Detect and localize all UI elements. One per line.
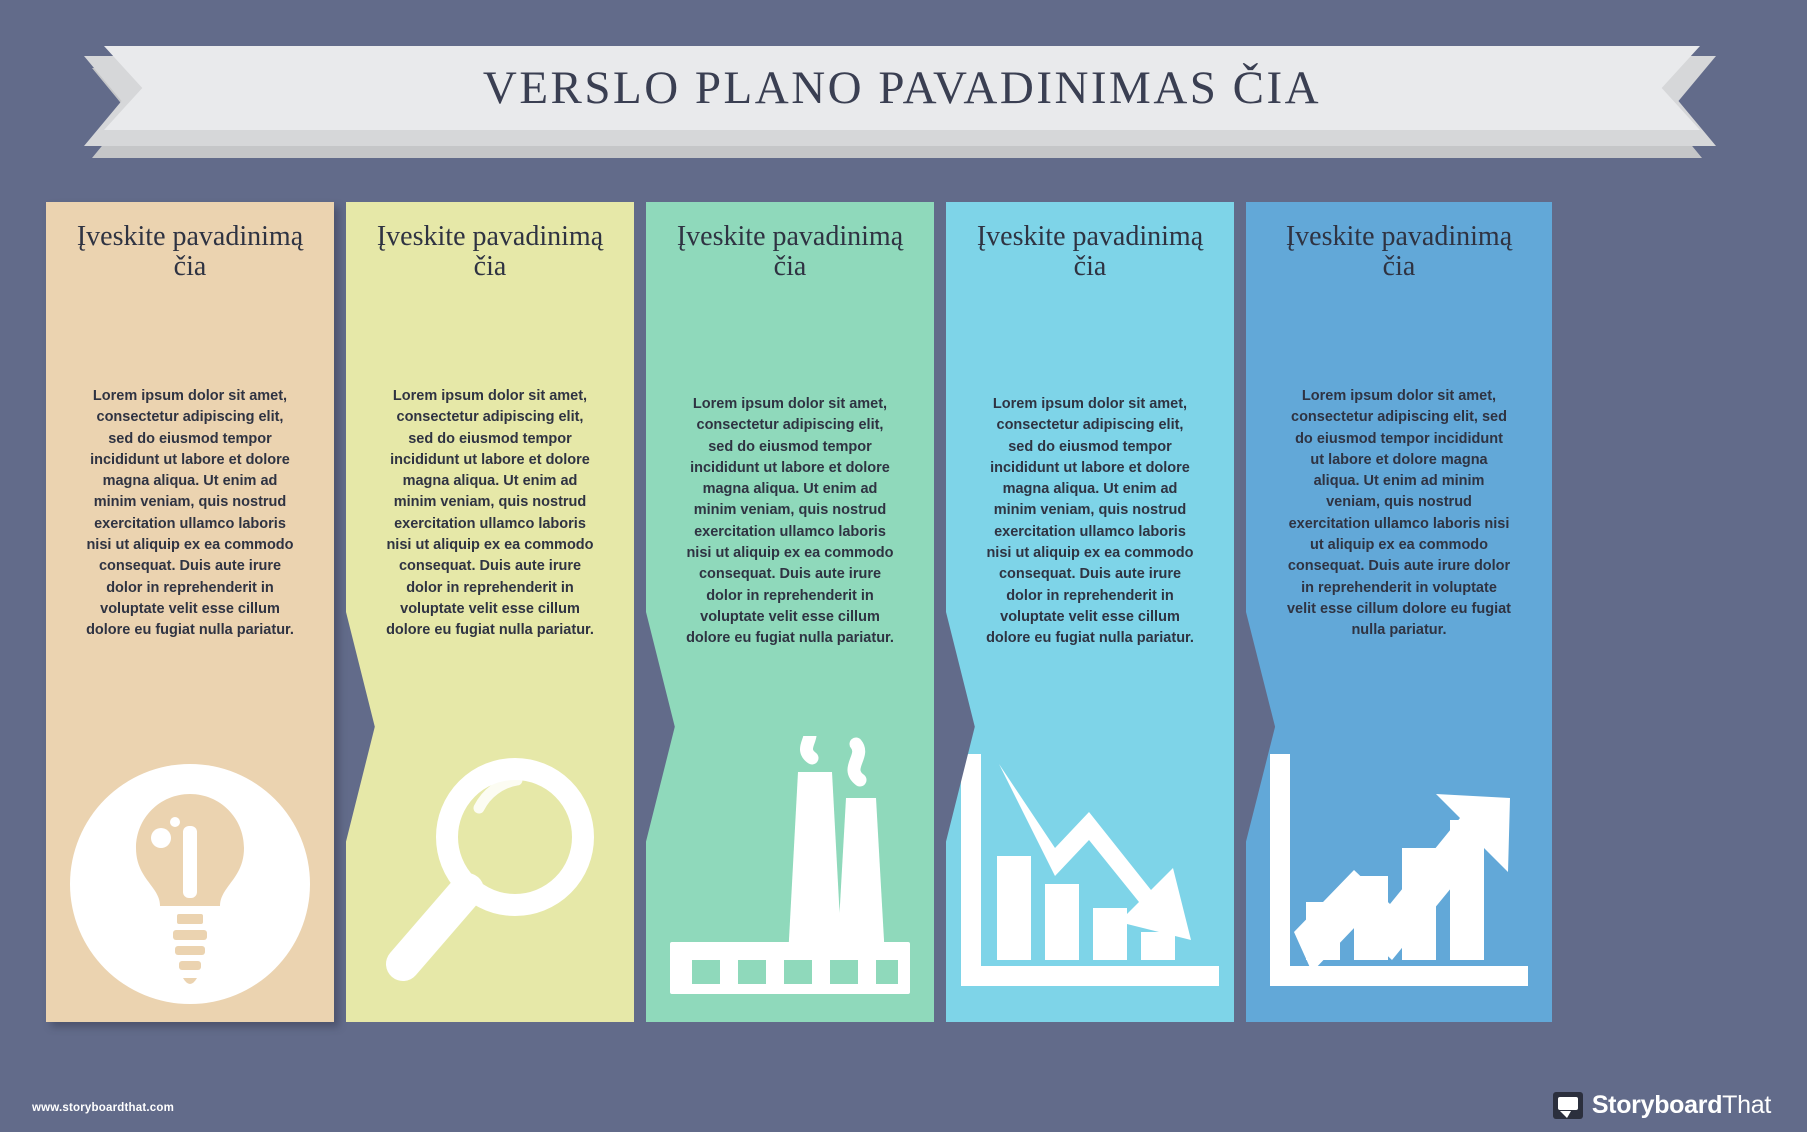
columns-container: Įveskite pavadinimą čia Lorem ipsum dolo…: [46, 202, 1752, 1022]
column-1[interactable]: Įveskite pavadinimą čia Lorem ipsum dolo…: [46, 202, 334, 1022]
column-5-icon-box: [1246, 734, 1552, 1004]
column-4[interactable]: Įveskite pavadinimą čia Lorem ipsum dolo…: [946, 202, 1234, 1022]
page-title: Verslo plano pavadinimas čia: [483, 61, 1321, 115]
brand-text: StoryboardThat: [1592, 1091, 1771, 1120]
factory-icon: [650, 736, 930, 1004]
banner-front: Verslo plano pavadinimas čia: [104, 46, 1700, 130]
magnifier-icon: [355, 742, 625, 1004]
column-4-icon-box: [946, 734, 1234, 1004]
column-2[interactable]: Įveskite pavadinimą čia Lorem ipsum dolo…: [346, 202, 634, 1022]
column-2-title: Įveskite pavadinimą čia: [368, 222, 612, 282]
column-1-body: Lorem ipsum dolor sit amet, consectetur …: [85, 386, 295, 642]
column-3-title: Įveskite pavadinimą čia: [668, 222, 912, 282]
chart-decrease-icon: [945, 736, 1235, 1004]
column-5[interactable]: Įveskite pavadinimą čia Lorem ipsum dolo…: [1246, 202, 1552, 1022]
footer-url[interactable]: www.storyboardthat.com: [32, 1102, 174, 1114]
column-5-title: Įveskite pavadinimą čia: [1268, 222, 1530, 282]
brand-logo: StoryboardThat: [1553, 1091, 1771, 1120]
column-2-icon-box: [346, 734, 634, 1004]
column-4-body: Lorem ipsum dolor sit amet, consectetur …: [985, 394, 1195, 650]
chart-increase-icon: [1254, 736, 1544, 1004]
lightbulb-icon: [55, 742, 325, 1004]
column-1-title: Įveskite pavadinimą čia: [68, 222, 312, 282]
infographic-poster: Verslo plano pavadinimas čia Įveskite pa…: [0, 0, 1807, 1132]
column-3-body: Lorem ipsum dolor sit amet, consectetur …: [685, 394, 895, 650]
column-4-title: Įveskite pavadinimą čia: [968, 222, 1212, 282]
title-banner: Verslo plano pavadinimas čia: [0, 38, 1807, 158]
column-2-body: Lorem ipsum dolor sit amet, consectetur …: [385, 386, 595, 642]
column-3-icon-box: [646, 734, 934, 1004]
brand-primary: Storyboard: [1592, 1091, 1722, 1119]
column-5-body: Lorem ipsum dolor sit amet, consectetur …: [1286, 386, 1511, 642]
brand-secondary: That: [1722, 1091, 1771, 1119]
storyboard-mark-icon: [1553, 1092, 1583, 1119]
column-1-icon-box: [46, 734, 334, 1004]
column-3[interactable]: Įveskite pavadinimą čia Lorem ipsum dolo…: [646, 202, 934, 1022]
